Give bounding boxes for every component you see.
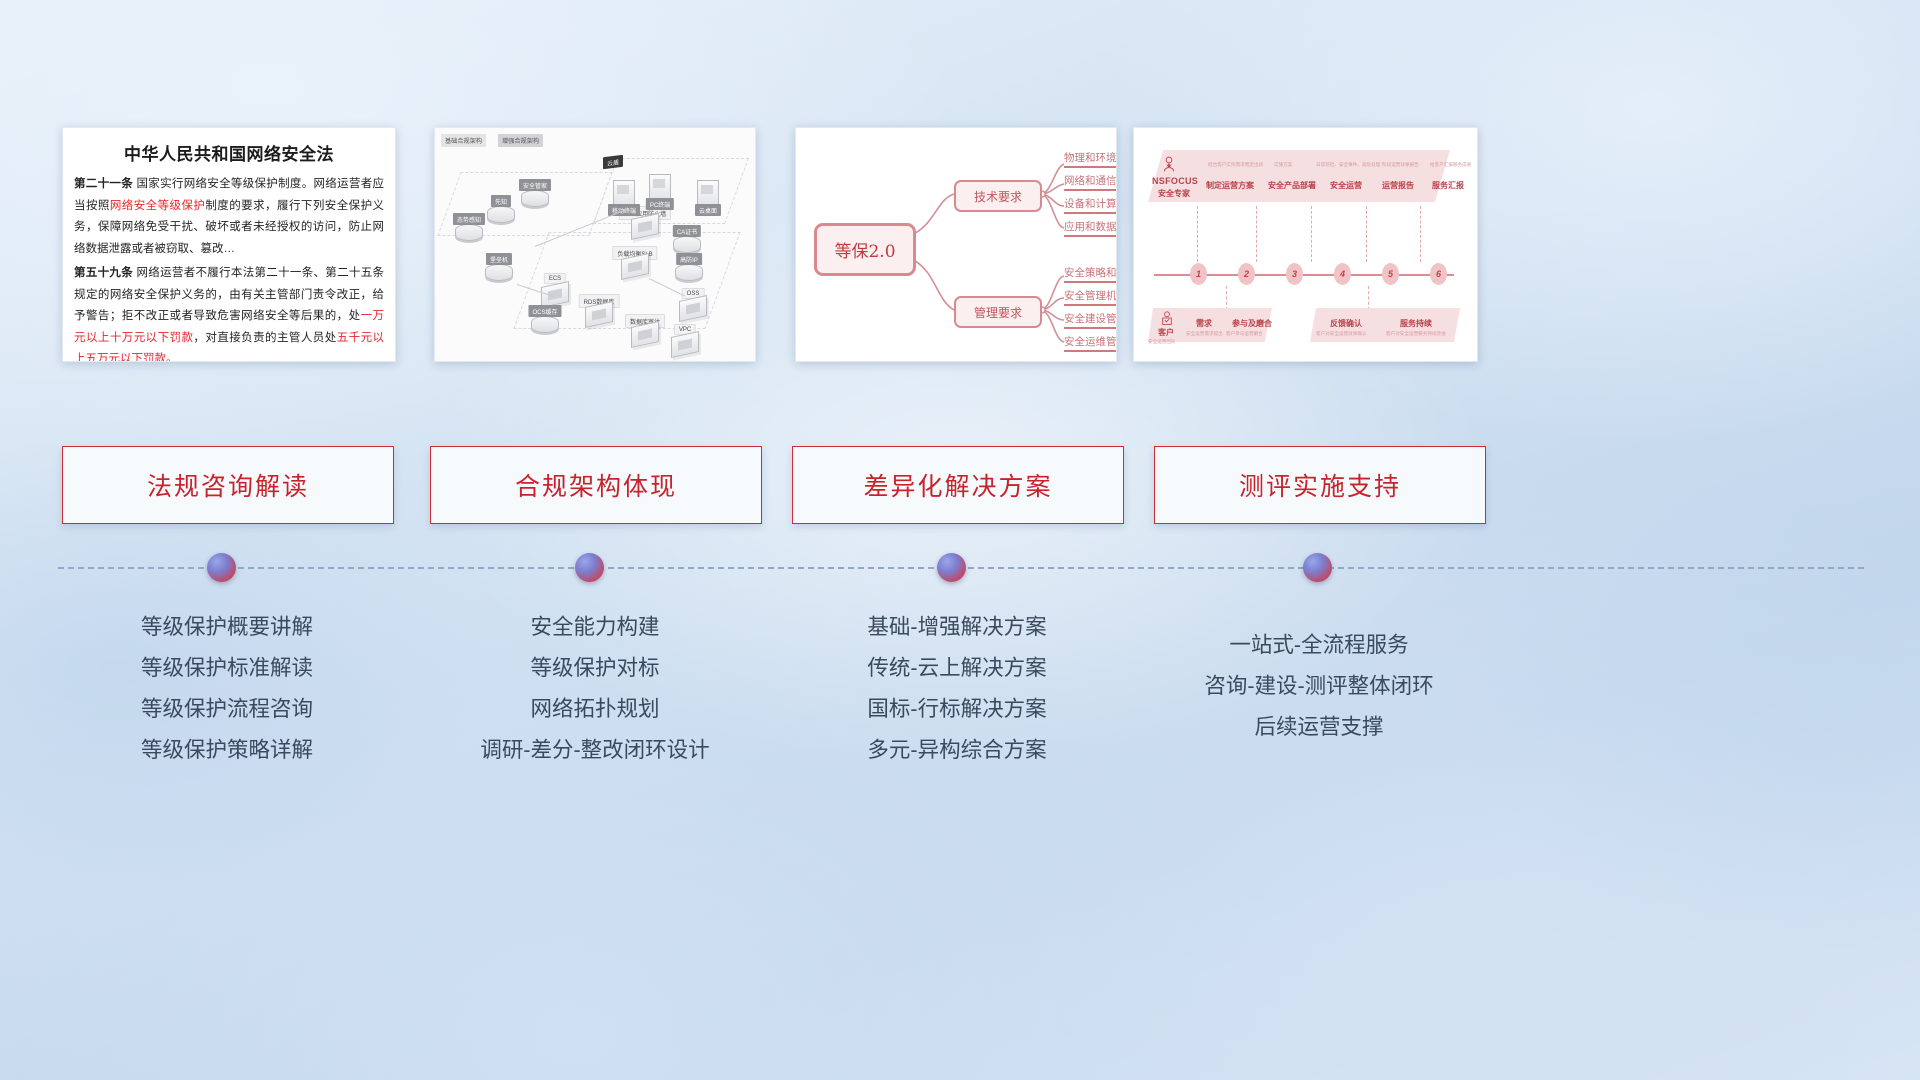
timeline-brand-sub: 安全专家 — [1158, 188, 1190, 199]
timeline-step-5-title: 服务汇报 — [1432, 180, 1464, 191]
axis-dot-4[interactable] — [1303, 553, 1332, 582]
section-list-3: 基础-增强解决方案 传统-云上解决方案 国标-行标解决方案 多元-异构综合方案 — [792, 607, 1122, 771]
timeline-customer-sub: 安全运营团队 — [1148, 339, 1176, 345]
list-item: 等级保护概要讲解 — [62, 607, 392, 648]
timeline-step-3-title: 安全运营 — [1330, 180, 1362, 191]
arch-node-baoleiji: 堡垒机 — [485, 264, 513, 281]
timeline-step-4-sub: 阶段运营效果报告 — [1382, 162, 1419, 168]
axis-dot-3[interactable] — [937, 553, 966, 582]
list-item: 网络拓扑规划 — [430, 689, 760, 730]
arch-node-slb: 负载均衡SLB — [621, 256, 649, 277]
service-timeline: NSFOCUS 安全专家 结合客户实际需求而定出具 制定运营方案 实施方案 安全… — [1134, 128, 1477, 361]
mindmap-leaf-application: 应用和数据安全 — [1064, 219, 1117, 237]
timeline-dot-4[interactable]: 4 — [1334, 263, 1351, 285]
list-item: 等级保护标准解读 — [62, 648, 392, 689]
timeline-brand: NSFOCUS — [1152, 176, 1198, 186]
timeline-step-5-sub: 给客户汇报服务成果 — [1430, 162, 1471, 168]
timeline-bottom-2-sub: 客户参与运营磨合 — [1226, 331, 1263, 337]
timeline-step-1-sub: 结合客户实际需求而定出具 — [1208, 162, 1263, 168]
mindmap-leaf-org: 安全管理机构和人员 — [1064, 288, 1117, 306]
timeline-step-2-title: 安全产品部署 — [1268, 180, 1316, 191]
section-title-1: 法规咨询解读 — [147, 467, 309, 503]
law-article-2-part2: ，对直接负责的主管人员处 — [193, 332, 336, 344]
section-title-3: 差异化解决方案 — [863, 467, 1052, 503]
timeline-bottom-3-sub: 客户对安全运营效果确认 — [1316, 331, 1367, 337]
list-item: 咨询-建设-测评整体闭环 — [1154, 666, 1484, 707]
arch-node-shiganzhi: 态势感知 — [455, 224, 483, 241]
law-article-1-number: 第二十一条 — [74, 178, 133, 190]
architecture-diagram: 基础合规架构 增强合规架构 云盾 安全管家 先知 态势感知 堡垒机 ECS — [435, 128, 755, 361]
law-title: 中华人民共和国网络安全法 — [63, 140, 395, 165]
list-item: 多元-异构综合方案 — [792, 730, 1122, 771]
list-item: 等级保护对标 — [430, 648, 760, 689]
section-list-4: 一站式-全流程服务 咨询-建设-测评整体闭环 后续运营支撑 — [1154, 625, 1484, 748]
timeline-bottom-4-sub: 客户对安全运营服务持续改进 — [1386, 331, 1446, 337]
section-title-4: 测评实施支持 — [1239, 467, 1401, 503]
arch-tab-basic[interactable]: 基础合规架构 — [441, 134, 486, 147]
list-item: 基础-增强解决方案 — [792, 607, 1122, 648]
list-item: 安全能力构建 — [430, 607, 760, 648]
timeline-bottom-2-title: 参与及磨合 — [1232, 318, 1272, 329]
timeline-bottom-4-title: 服务持续 — [1400, 318, 1432, 329]
arch-node-xianzhi: 先知 — [487, 206, 515, 223]
arch-node-waf: Web应用防火墙 — [631, 216, 659, 237]
timeline-dot-1[interactable]: 1 — [1190, 263, 1207, 285]
timeline-dot-2[interactable]: 2 — [1238, 263, 1255, 285]
mindmap-leaf-physical: 物理和环境安全 — [1064, 150, 1117, 168]
arch-node-gaofang-ip: 高防IP — [675, 264, 703, 281]
timeline-bottom-3-title: 反馈确认 — [1330, 318, 1362, 329]
timeline-bottom-1-sub: 安全运营需求提出 — [1186, 331, 1223, 337]
arch-node-db-audit: 数据库审计 — [631, 324, 659, 345]
list-item: 后续运营支撑 — [1154, 707, 1484, 748]
axis-dot-2[interactable] — [575, 553, 604, 582]
timeline-customer-label: 客户 — [1158, 327, 1174, 338]
mindmap-branch-technical: 技术要求 — [954, 180, 1042, 212]
list-item: 调研-差分-整改闭环设计 — [430, 730, 760, 771]
card-compliance-architecture: 基础合规架构 增强合规架构 云盾 安全管家 先知 态势感知 堡垒机 ECS — [434, 127, 756, 362]
arch-node-oss: OSS — [679, 298, 707, 319]
card-cybersecurity-law: 中华人民共和国网络安全法 第二十一条 国家实行网络安全等级保护制度。网络运营者应… — [62, 127, 396, 362]
mindmap-leaf-network: 网络和通信安全 — [1064, 173, 1117, 191]
timeline-step-4-title: 运营报告 — [1382, 180, 1414, 191]
cards-row: 中华人民共和国网络安全法 第二十一条 国家实行网络安全等级保护制度。网络运营者应… — [0, 0, 1920, 380]
arch-node-rds: RDS数据库 — [585, 304, 613, 325]
law-body: 第二十一条 国家实行网络安全等级保护制度。网络运营者应当按照网络安全等级保护制度… — [63, 174, 395, 362]
arch-node-ca: CA证书 — [673, 236, 701, 253]
arch-node-vpc: VPC — [671, 334, 699, 355]
mindmap-root: 等保2.0 — [814, 223, 916, 276]
list-item: 传统-云上解决方案 — [792, 648, 1122, 689]
arch-node-anqishi: OCS缓存 — [531, 316, 559, 333]
card-nsfocus-service-timeline: NSFOCUS 安全专家 结合客户实际需求而定出具 制定运营方案 实施方案 安全… — [1133, 127, 1478, 362]
mindmap-leaf-policy: 安全策略和管理制度 — [1064, 265, 1117, 283]
mindmap-leaf-device: 设备和计算安全 — [1064, 196, 1117, 214]
mindmap-leaf-build: 安全建设管理 — [1064, 311, 1117, 329]
section-list-2: 安全能力构建 等级保护对标 网络拓扑规划 调研-差分-整改闭环设计 — [430, 607, 760, 771]
list-item: 等级保护策略详解 — [62, 730, 392, 771]
axis-dot-1[interactable] — [207, 553, 236, 582]
expert-person-icon — [1162, 156, 1176, 172]
timeline-step-2-sub: 实施方案 — [1274, 162, 1292, 168]
timeline-step-1-title: 制定运营方案 — [1206, 180, 1254, 191]
timeline-step-3-sub: 日常巡检、安全事件、高危处理 — [1316, 162, 1380, 168]
timeline-dot-3[interactable]: 3 — [1286, 263, 1303, 285]
timeline-dot-6[interactable]: 6 — [1430, 263, 1447, 285]
mindmap-branch-management: 管理要求 — [954, 296, 1042, 328]
arch-tab-enhanced[interactable]: 增强合规架构 — [498, 134, 543, 147]
arch-node-anquanguanjia: 安全管家 — [521, 190, 549, 207]
list-item: 国标-行标解决方案 — [792, 689, 1122, 730]
section-title-2: 合规架构体现 — [515, 467, 677, 503]
law-article-1-highlight: 网络安全等级保护 — [110, 200, 206, 212]
section-title-box-2[interactable]: 合规架构体现 — [430, 446, 762, 524]
arch-node-cloud-desktop: 云桌面 — [697, 180, 719, 206]
section-title-box-1[interactable]: 法规咨询解读 — [62, 446, 394, 524]
arch-node-pc-terminal: PC终端 — [649, 174, 671, 200]
customer-person-icon — [1160, 311, 1174, 325]
list-item: 等级保护流程咨询 — [62, 689, 392, 730]
card-mindmap-dengbao: 等保2.0 技术要求 管理要求 物理和环境安全 网络和通信安全 设备和计算安全 … — [795, 127, 1117, 362]
section-list-1: 等级保护概要讲解 等级保护标准解读 等级保护流程咨询 等级保护策略详解 — [62, 607, 392, 771]
section-title-box-3[interactable]: 差异化解决方案 — [792, 446, 1124, 524]
law-article-2-number: 第五十九条 — [74, 267, 133, 279]
list-item: 一站式-全流程服务 — [1154, 625, 1484, 666]
mindmap-leaf-ops: 安全运维管理 — [1064, 334, 1117, 352]
timeline-bottom-1-title: 需求 — [1196, 318, 1212, 329]
mindmap: 等保2.0 技术要求 管理要求 物理和环境安全 网络和通信安全 设备和计算安全 … — [796, 128, 1116, 361]
timeline-dot-5[interactable]: 5 — [1382, 263, 1399, 285]
arch-node-mobile-terminal: 移动终端 — [613, 180, 635, 206]
section-title-box-4[interactable]: 测评实施支持 — [1154, 446, 1486, 524]
